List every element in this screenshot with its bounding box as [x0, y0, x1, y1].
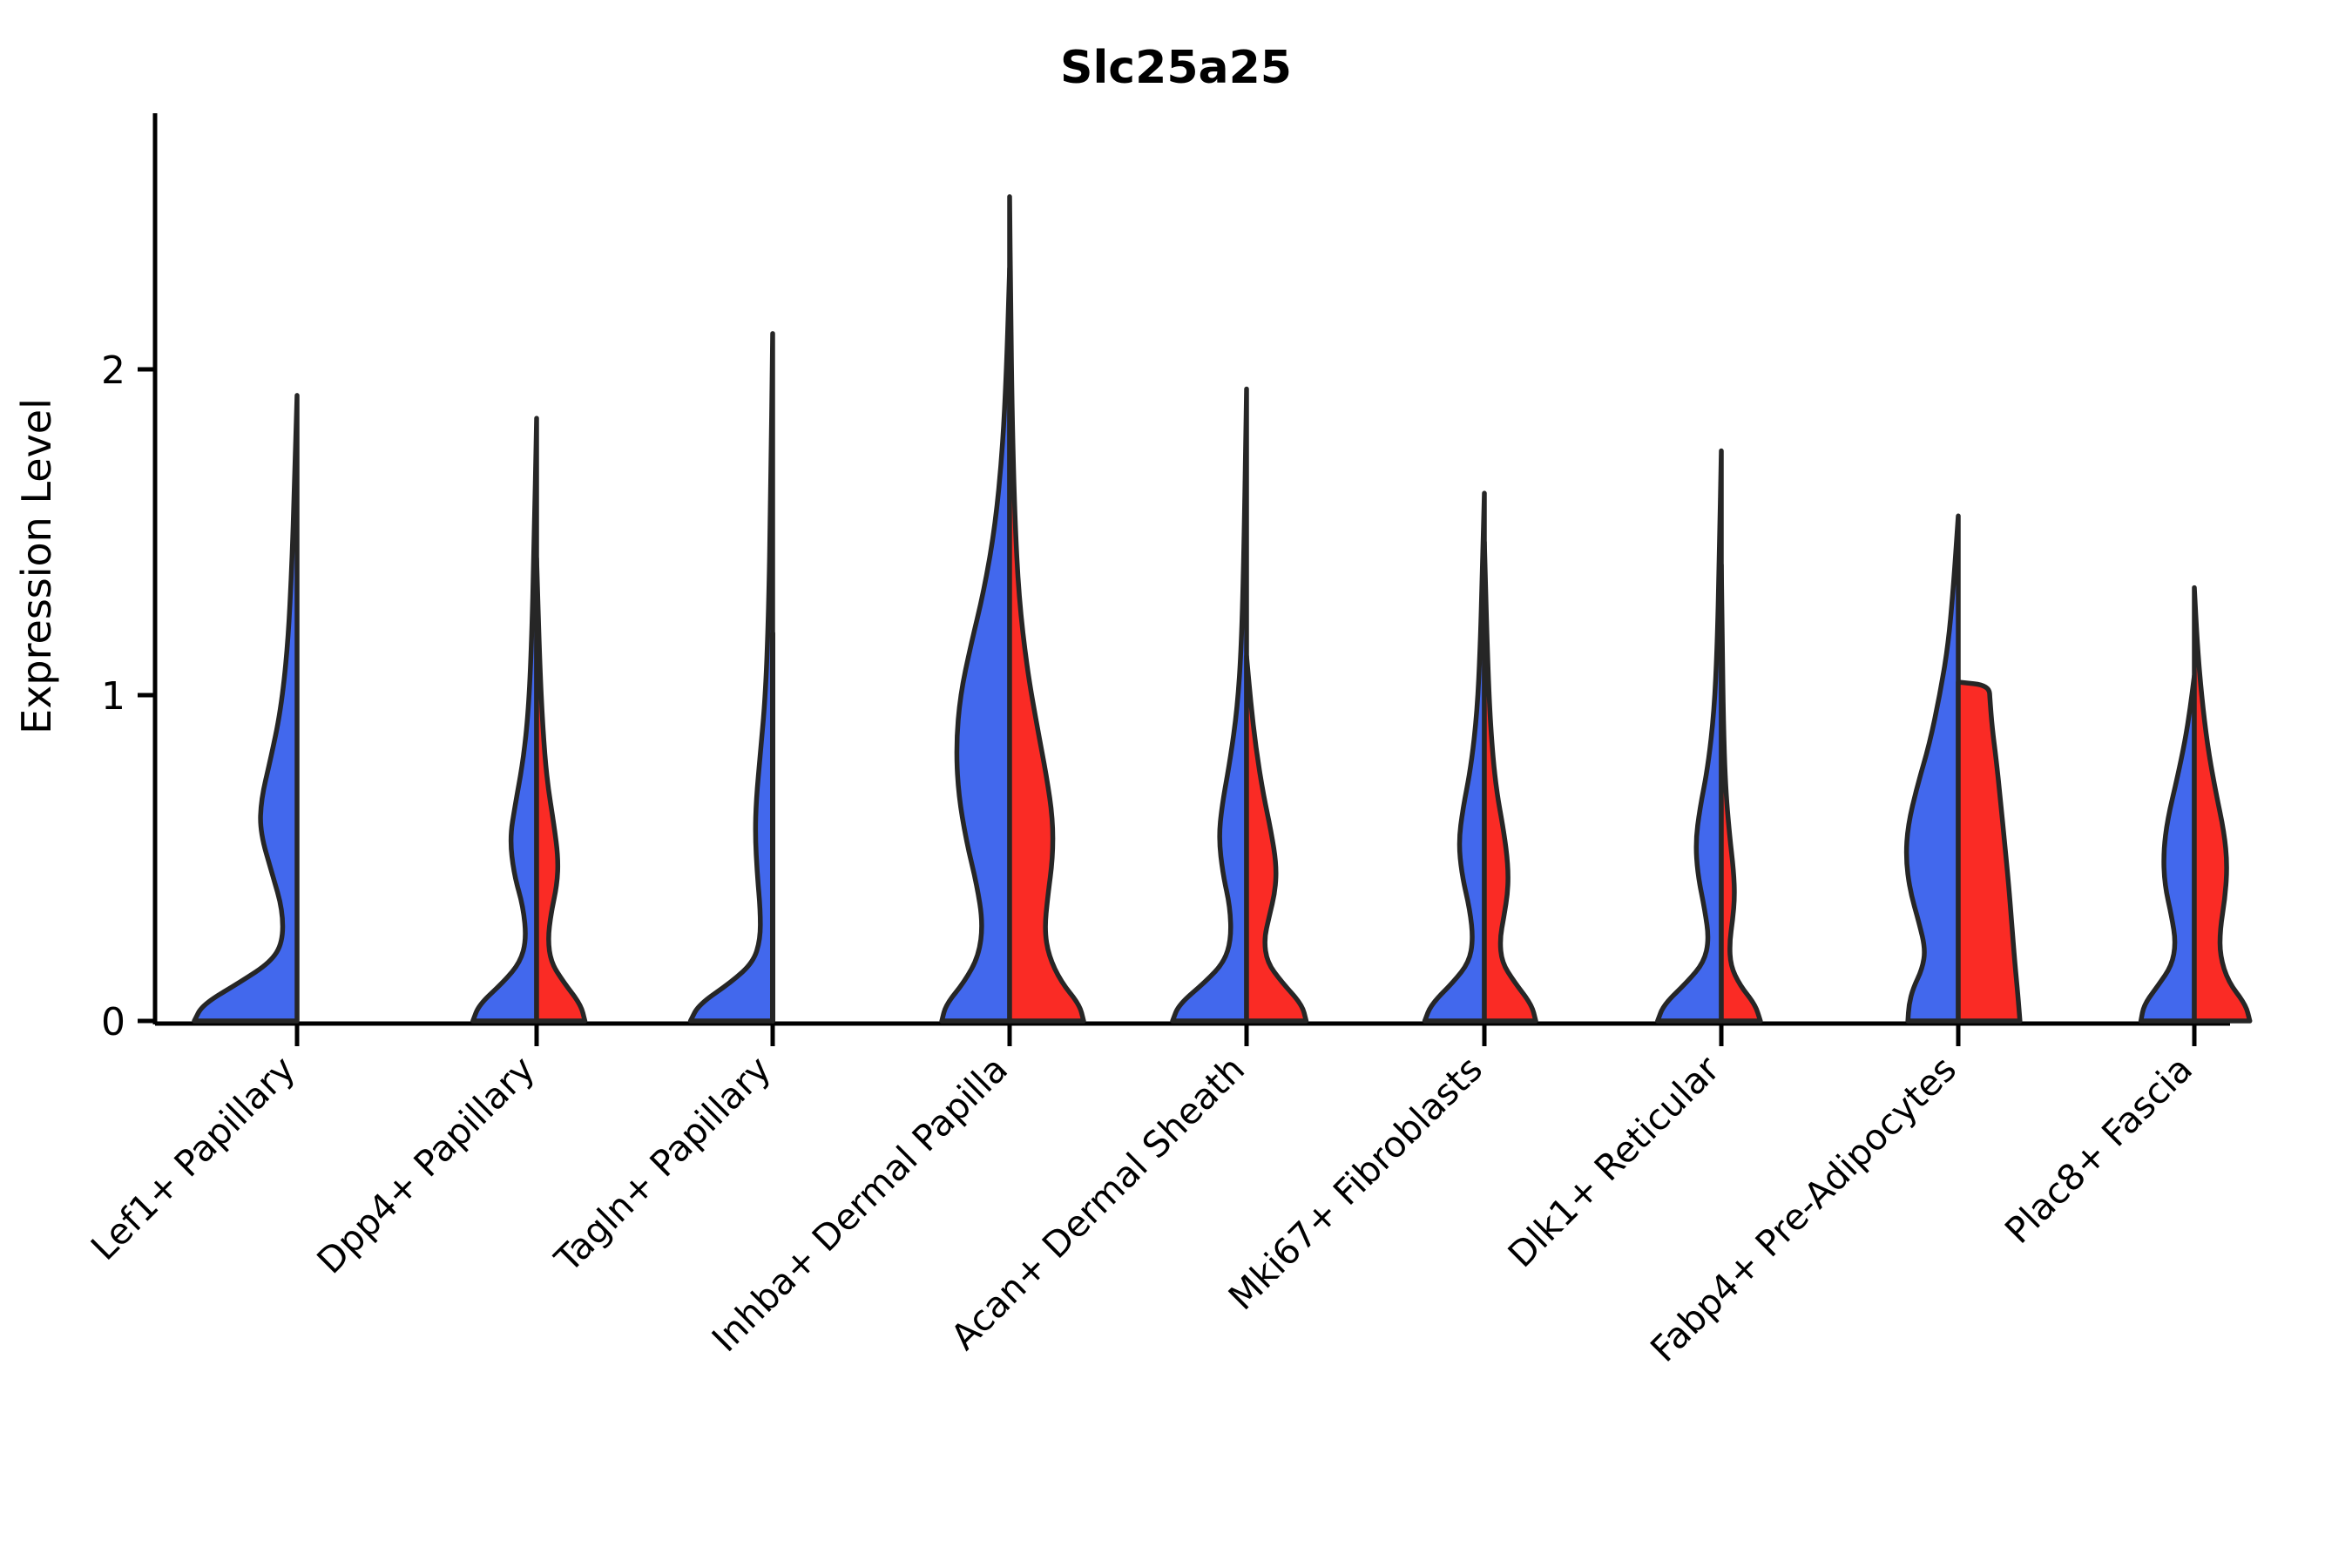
y-tick-label: 1 [101, 674, 125, 719]
y-tick-label: 2 [101, 348, 125, 393]
y-tick-label: 0 [101, 1000, 125, 1044]
figure-canvas: Slc25a25 Expression Level 012 Lef1+ Papi… [0, 0, 2352, 1568]
page-title: Slc25a25 [1060, 42, 1292, 94]
violin-plot-figure: Slc25a25 Expression Level 012 Lef1+ Papi… [0, 0, 2352, 1568]
y-axis-label: Expression Level [13, 398, 60, 734]
